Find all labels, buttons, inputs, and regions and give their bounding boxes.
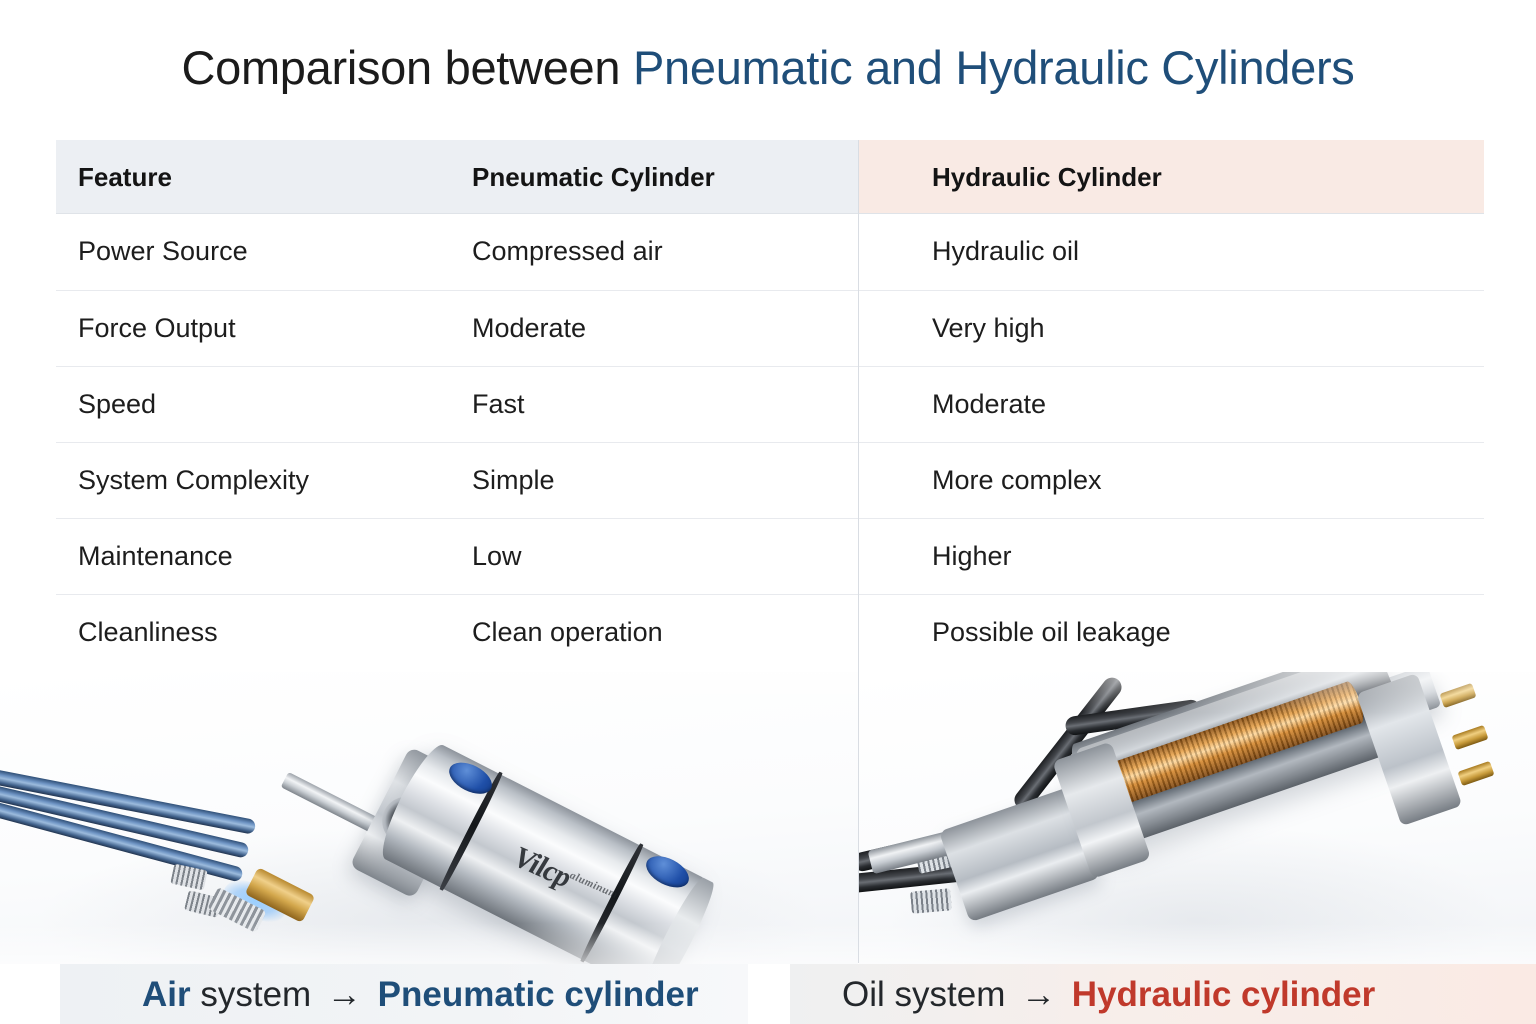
caption-bar-pneumatic: Air system → Pneumatic cylinder bbox=[60, 964, 748, 1024]
brand-name: Vilcp bbox=[509, 840, 574, 895]
barrel-end-cap bbox=[638, 874, 719, 964]
arrow-icon: → bbox=[321, 975, 368, 1014]
table-row: Power Source Compressed air Hydraulic oi… bbox=[56, 214, 1484, 290]
table-row: Cleanliness Clean operation Possible oil… bbox=[56, 594, 1484, 670]
cell-hydraulic: Moderate bbox=[858, 367, 1484, 443]
caption-term-air: Air bbox=[142, 975, 191, 1014]
cell-feature: Speed bbox=[56, 367, 452, 443]
brand-sub: aluminum bbox=[568, 869, 619, 901]
cell-pneumatic: Fast bbox=[452, 367, 858, 443]
hose-fitting bbox=[910, 888, 952, 913]
cell-pneumatic: Clean operation bbox=[452, 595, 858, 671]
caption-middle: system bbox=[885, 975, 1015, 1014]
comparison-table: Feature Pneumatic Cylinder Hydraulic Cyl… bbox=[56, 140, 1484, 670]
cell-pneumatic: Low bbox=[452, 519, 858, 595]
caption-text-hydraulic: Oil system → Hydraulic cylinder bbox=[842, 977, 1375, 1012]
cell-pneumatic: Moderate bbox=[452, 291, 858, 367]
table-header-underline bbox=[56, 213, 1484, 214]
cell-feature: System Complexity bbox=[56, 443, 452, 519]
hydraulic-cylinder-art bbox=[859, 672, 1536, 964]
cell-feature: Force Output bbox=[56, 291, 452, 367]
table-header-row: Feature Pneumatic Cylinder Hydraulic Cyl… bbox=[56, 140, 1484, 214]
page-title-prefix: Comparison between bbox=[181, 41, 633, 94]
table-row: Maintenance Low Higher bbox=[56, 518, 1484, 594]
caption-term-oil: Oil bbox=[842, 975, 885, 1014]
table-row: Speed Fast Moderate bbox=[56, 366, 1484, 442]
cell-hydraulic: More complex bbox=[858, 443, 1484, 519]
column-header-pneumatic: Pneumatic Cylinder bbox=[452, 140, 858, 214]
cell-feature: Maintenance bbox=[56, 519, 452, 595]
slide-root: Comparison between Pneumatic and Hydraul… bbox=[0, 0, 1536, 1024]
cell-hydraulic: Very high bbox=[858, 291, 1484, 367]
cylinder-barrel: Vilcpaluminum bbox=[373, 739, 714, 964]
arrow-icon: → bbox=[1015, 975, 1062, 1014]
caption-result-hydraulic: Hydraulic cylinder bbox=[1062, 975, 1375, 1014]
cell-pneumatic: Compressed air bbox=[452, 214, 858, 290]
cell-pneumatic: Simple bbox=[452, 443, 858, 519]
air-port-cap bbox=[641, 850, 694, 894]
caption-middle: system bbox=[191, 975, 321, 1014]
caption-bar-hydraulic: Oil system → Hydraulic cylinder bbox=[790, 964, 1536, 1024]
cell-hydraulic: Higher bbox=[858, 519, 1484, 595]
cell-hydraulic: Hydraulic oil bbox=[858, 214, 1484, 290]
pneumatic-cylinder-art: Vilcpaluminum bbox=[0, 672, 858, 964]
page-title-highlight: Pneumatic and Hydraulic Cylinders bbox=[633, 41, 1355, 94]
pneumatic-photo: Vilcpaluminum bbox=[0, 672, 858, 964]
brass-port bbox=[1439, 683, 1476, 708]
column-header-hydraulic: Hydraulic Cylinder bbox=[858, 140, 1484, 214]
brass-port bbox=[1457, 761, 1494, 786]
page-title: Comparison between Pneumatic and Hydraul… bbox=[0, 40, 1536, 95]
cell-feature: Power Source bbox=[56, 214, 452, 290]
caption-text-pneumatic: Air system → Pneumatic cylinder bbox=[142, 977, 699, 1012]
photo-band: Vilcpaluminum bbox=[0, 672, 1536, 964]
hydraulic-photo bbox=[859, 672, 1536, 964]
caption-result-pneumatic: Pneumatic cylinder bbox=[368, 975, 699, 1014]
table-row: Force Output Moderate Very high bbox=[56, 290, 1484, 366]
table-body: Power Source Compressed air Hydraulic oi… bbox=[56, 214, 1484, 670]
table-header: Feature Pneumatic Cylinder Hydraulic Cyl… bbox=[56, 140, 1484, 214]
cell-hydraulic: Possible oil leakage bbox=[858, 595, 1484, 671]
table-row: System Complexity Simple More complex bbox=[56, 442, 1484, 518]
column-header-feature: Feature bbox=[56, 140, 452, 214]
brass-port bbox=[1451, 725, 1488, 750]
cylinder-brand-label: Vilcpaluminum bbox=[509, 840, 621, 916]
cell-feature: Cleanliness bbox=[56, 595, 452, 671]
